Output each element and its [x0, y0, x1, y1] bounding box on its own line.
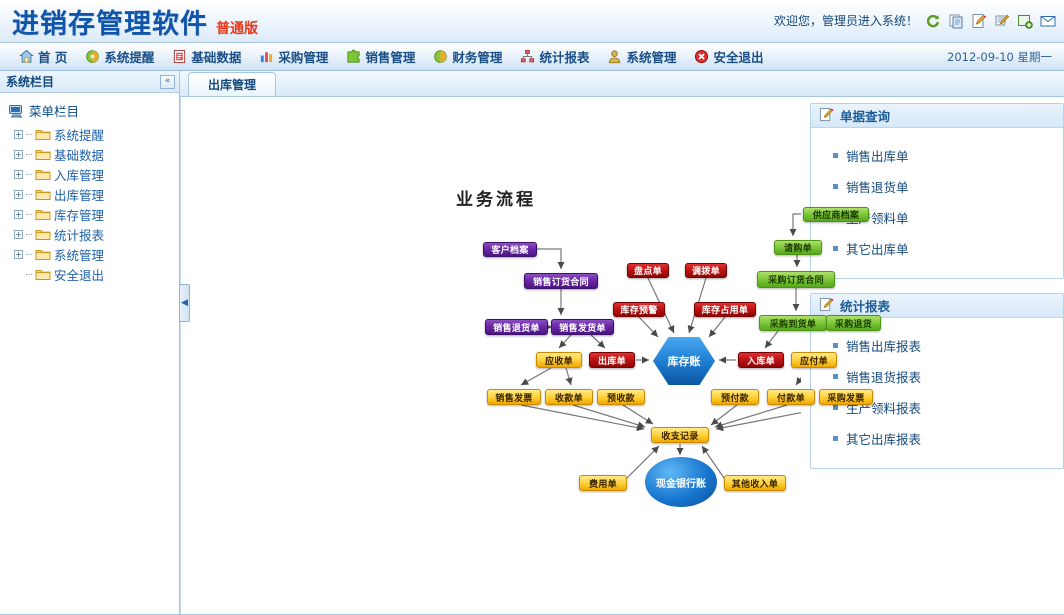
- refresh-icon[interactable]: [925, 13, 941, 29]
- flow-node[interactable]: 采购退货: [826, 315, 881, 331]
- panel-item-label: 其它出库报表: [846, 429, 921, 448]
- puzzle-icon: [346, 49, 361, 64]
- panel-item-label: 销售出库单: [846, 146, 909, 165]
- flow-node[interactable]: 预付款: [711, 389, 759, 405]
- flow-node[interactable]: 库存预警: [613, 302, 665, 317]
- sidebar-item-label: 出库管理: [54, 185, 104, 204]
- sidebar-item-inventory[interactable]: + 库存管理: [14, 204, 179, 224]
- sidebar-item-label: 库存管理: [54, 205, 104, 224]
- flow-node[interactable]: 库存占用单: [694, 302, 756, 317]
- welcome-message: 欢迎您，管理员进入系统！: [774, 12, 918, 29]
- workspace: 业务流程: [180, 97, 1064, 614]
- sidebar-item-reports[interactable]: + 统计报表: [14, 224, 179, 244]
- database-icon: [172, 49, 187, 64]
- expand-plus-icon[interactable]: +: [14, 250, 23, 259]
- edit-note-icon: [819, 297, 834, 315]
- tree-connector: [26, 274, 32, 275]
- flow-node[interactable]: 销售订货合同: [524, 273, 598, 289]
- edit-icon[interactable]: [971, 13, 987, 29]
- right-panels: 单据查询 销售出库单 销售退货单 生产领料单: [810, 103, 1064, 483]
- bullet-icon: [833, 374, 838, 379]
- panel-header: 单据查询: [811, 104, 1063, 128]
- panel-body: 销售出库单 销售退货单 生产领料单 其它出库单: [811, 128, 1063, 278]
- sidebar-item-label: 基础数据: [54, 145, 104, 164]
- sidebar-item-label: 安全退出: [54, 265, 104, 284]
- expand-plus-icon[interactable]: +: [14, 230, 23, 239]
- folder-icon: [35, 248, 51, 261]
- edit-note-icon: [819, 107, 834, 125]
- flow-node[interactable]: 采购到货单: [759, 315, 827, 331]
- tree-items: + 系统提醒 + 基础数据 + 入库管理: [8, 124, 179, 284]
- main-body: 系统栏目 « 菜单栏目 + 系统提醒 +: [0, 71, 1064, 614]
- flow-node[interactable]: 盘点单: [627, 263, 669, 278]
- folder-icon: [35, 128, 51, 141]
- nav-label: 系统提醒: [104, 47, 154, 66]
- nav-item-purchase[interactable]: 采购管理: [250, 44, 337, 70]
- bullet-icon: [833, 246, 838, 251]
- panel-document-query: 单据查询 销售出库单 销售退货单 生产领料单: [810, 103, 1064, 279]
- nav-label: 系统管理: [626, 47, 676, 66]
- app-header: 进销存管理软件 普通版 欢迎您，管理员进入系统！: [0, 0, 1064, 43]
- folder-icon: [35, 228, 51, 241]
- bullet-icon: [833, 405, 838, 410]
- tree-connector: [26, 214, 32, 215]
- computer-icon: [8, 104, 24, 117]
- sidebar-item-outbound[interactable]: + 出库管理: [14, 184, 179, 204]
- header-actions: 欢迎您，管理员进入系统！: [774, 12, 1056, 29]
- sidebar-item-logout[interactable]: 安全退出: [14, 264, 179, 284]
- copy-icon[interactable]: [948, 13, 964, 29]
- app-edition: 普通版: [216, 18, 258, 38]
- note-icon[interactable]: [994, 13, 1010, 29]
- chart-icon: [259, 49, 274, 64]
- flow-node[interactable]: 其他收入单: [724, 475, 786, 491]
- tree-root-label: 菜单栏目: [29, 101, 79, 120]
- sidebar-item-basic-data[interactable]: + 基础数据: [14, 144, 179, 164]
- business-flow-diagram: 业务流程: [181, 97, 801, 615]
- tree-connector: [26, 194, 32, 195]
- nav-item-sales[interactable]: 销售管理: [337, 44, 424, 70]
- flow-node[interactable]: 预收款: [597, 389, 645, 405]
- main-navigation: 首 页 系统提醒 基础数据 采购管理 销售管理 财务管理 统计报: [0, 43, 1064, 71]
- flow-node[interactable]: 销售发票: [487, 389, 541, 405]
- sidebar-splitter-handle[interactable]: ◀: [179, 284, 190, 322]
- sidebar-item-inbound[interactable]: + 入库管理: [14, 164, 179, 184]
- folder-icon: [35, 208, 51, 221]
- flow-node[interactable]: 销售退货单: [485, 319, 548, 335]
- expand-plus-icon[interactable]: +: [14, 190, 23, 199]
- sidebar-item-label: 系统管理: [54, 245, 104, 264]
- flow-node[interactable]: 调拨单: [685, 263, 727, 278]
- nav-item-basic-data[interactable]: 基础数据: [163, 44, 250, 70]
- panel-list-item[interactable]: 销售出库报表: [811, 330, 1063, 361]
- tab-bar: 出库管理: [180, 71, 1064, 97]
- panel-item-label: 销售出库报表: [846, 336, 921, 355]
- nav-label: 统计报表: [539, 47, 589, 66]
- flow-node[interactable]: 出库单: [589, 352, 635, 368]
- flow-node[interactable]: 入库单: [738, 352, 784, 368]
- panel-title: 单据查询: [840, 106, 890, 125]
- panel-list-item[interactable]: 销售出库单: [811, 140, 1063, 171]
- nav-item-system-alert[interactable]: 系统提醒: [76, 44, 163, 70]
- panel-list-item[interactable]: 销售退货单: [811, 171, 1063, 202]
- flow-node[interactable]: 销售发货单: [551, 319, 614, 335]
- bullet-icon: [833, 184, 838, 189]
- app-title: 进销存管理软件: [12, 2, 208, 41]
- tree-leaf-marker: [14, 270, 23, 279]
- sidebar-header: 系统栏目 «: [0, 71, 179, 93]
- sitemap-icon: [520, 49, 535, 64]
- expand-plus-icon[interactable]: +: [14, 130, 23, 139]
- tree-connector: [26, 254, 32, 255]
- tree-connector: [26, 154, 32, 155]
- panel-list-item[interactable]: 销售退货报表: [811, 361, 1063, 392]
- flow-node[interactable]: 请购单: [774, 240, 822, 255]
- folder-icon: [35, 148, 51, 161]
- nav-label: 首 页: [38, 47, 67, 66]
- sidebar-item-label: 统计报表: [54, 225, 104, 244]
- panel-list-item[interactable]: 其它出库单: [811, 233, 1063, 264]
- flow-node[interactable]: 采购发票: [819, 389, 873, 405]
- sidebar-item-system-admin[interactable]: + 系统管理: [14, 244, 179, 264]
- nav-label: 销售管理: [365, 47, 415, 66]
- flow-node[interactable]: 收支记录: [651, 427, 709, 443]
- tree-root-node[interactable]: 菜单栏目: [8, 99, 179, 122]
- home-icon: [19, 49, 34, 64]
- app-logo: 进销存管理软件 普通版: [12, 2, 258, 41]
- nav-item-reports[interactable]: 统计报表: [511, 44, 598, 70]
- current-date: 2012-09-10 星期一: [947, 49, 1052, 65]
- expand-plus-icon[interactable]: +: [14, 170, 23, 179]
- bullet-icon: [833, 343, 838, 348]
- nav-item-finance[interactable]: 财务管理: [424, 44, 511, 70]
- panel-item-label: 其它出库单: [846, 239, 909, 258]
- expand-plus-icon[interactable]: +: [14, 150, 23, 159]
- user-icon: [607, 49, 622, 64]
- sidebar-item-system-alert[interactable]: + 系统提醒: [14, 124, 179, 144]
- coin-icon: [433, 49, 448, 64]
- folder-icon: [35, 268, 51, 281]
- folder-icon: [35, 188, 51, 201]
- nav-item-system[interactable]: 系统管理: [598, 44, 685, 70]
- tree-connector: [26, 234, 32, 235]
- bullet-icon: [833, 153, 838, 158]
- expand-plus-icon[interactable]: +: [14, 210, 23, 219]
- tree-connector: [26, 134, 32, 135]
- bell-icon: [85, 49, 100, 64]
- nav-item-home[interactable]: 首 页: [10, 44, 76, 70]
- nav-item-logout[interactable]: 安全退出: [685, 44, 772, 70]
- nav-label: 采购管理: [278, 47, 328, 66]
- flow-node-cash-bank-ledger[interactable]: 现金银行账: [645, 457, 717, 507]
- sidebar-title: 系统栏目: [6, 73, 54, 90]
- mail-icon[interactable]: [1040, 13, 1056, 29]
- flow-node[interactable]: 费用单: [579, 475, 627, 491]
- sidebar-item-label: 系统提醒: [54, 125, 104, 144]
- exit-icon: [694, 49, 709, 64]
- flow-node[interactable]: 收款单: [545, 389, 593, 405]
- sidebar: 系统栏目 « 菜单栏目 + 系统提醒 +: [0, 71, 180, 614]
- flow-node[interactable]: 付款单: [767, 389, 815, 405]
- tab-outbound-management[interactable]: 出库管理: [188, 72, 276, 96]
- panel-item-label: 销售退货单: [846, 177, 909, 196]
- sidebar-collapse-button[interactable]: «: [160, 75, 175, 89]
- panel-list-item[interactable]: 其它出库报表: [811, 423, 1063, 454]
- flow-node[interactable]: 采购订货合同: [757, 271, 835, 288]
- panel-title: 统计报表: [840, 296, 890, 315]
- flow-node[interactable]: 应付单: [791, 352, 837, 368]
- sidebar-tree: 菜单栏目 + 系统提醒 + 基础数据 +: [0, 93, 179, 284]
- nav-label: 财务管理: [452, 47, 502, 66]
- content-area: 出库管理 业务流程: [180, 71, 1064, 614]
- folder-icon: [35, 168, 51, 181]
- flow-node[interactable]: 供应商档案: [803, 207, 869, 222]
- flow-node[interactable]: 客户档案: [483, 242, 537, 257]
- bullet-icon: [833, 436, 838, 441]
- panel-item-label: 销售退货报表: [846, 367, 921, 386]
- tree-connector: [26, 174, 32, 175]
- sidebar-item-label: 入库管理: [54, 165, 104, 184]
- nav-label: 安全退出: [713, 47, 763, 66]
- new-window-icon[interactable]: [1017, 13, 1033, 29]
- flow-node[interactable]: 应收单: [536, 352, 582, 368]
- nav-label: 基础数据: [191, 47, 241, 66]
